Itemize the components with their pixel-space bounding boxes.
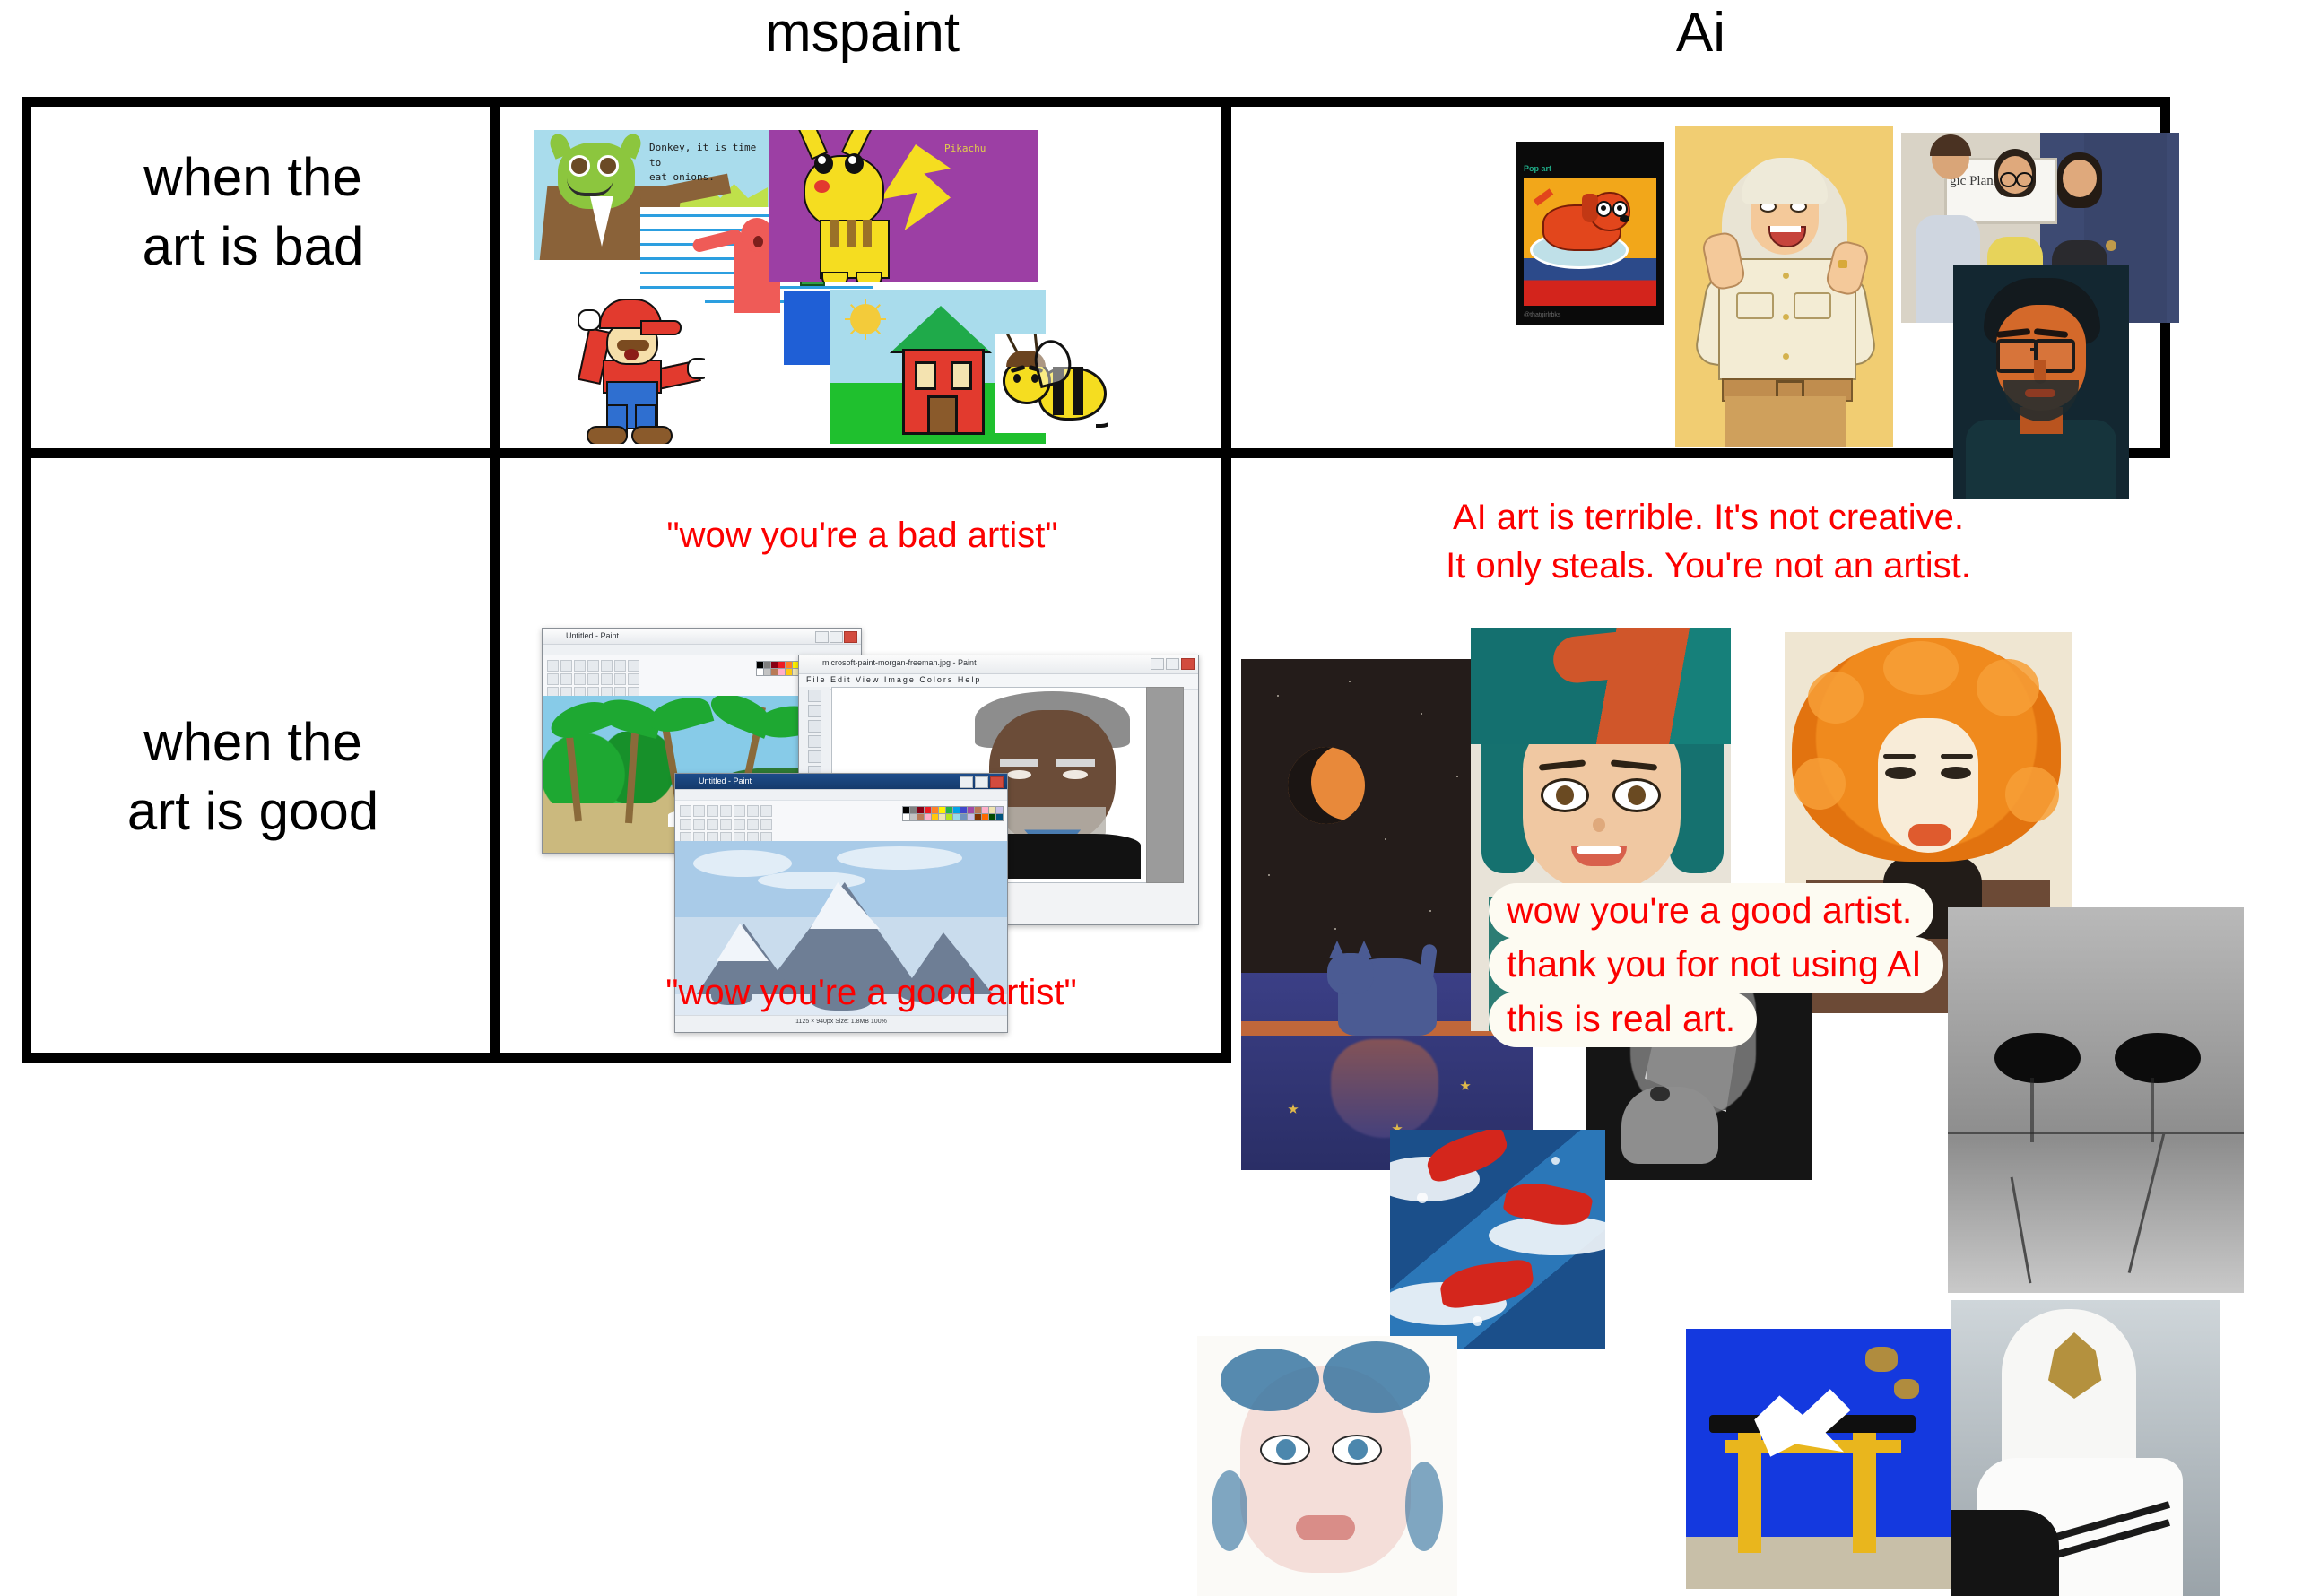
pikachu-eye-left: [814, 153, 833, 174]
orange-teal-man-portrait: [1953, 265, 2129, 499]
mspaint-good-artwork-collage: Untitled - Paint: [542, 628, 1205, 941]
watercolor-eye-left: [1260, 1435, 1310, 1465]
bee-stripe: [1073, 367, 1083, 415]
window-title: Untitled - Paint: [699, 776, 752, 785]
pikachu-foot: [856, 272, 882, 282]
bee-stinger: [1096, 404, 1108, 428]
door-knob-icon: [2106, 240, 2116, 251]
koi-fish: [1438, 1258, 1535, 1310]
house-window-left: [915, 361, 936, 390]
swimmer-mouth: [753, 236, 763, 247]
caption-ai-bad: AI art is terrible. It's not creative. I…: [1247, 493, 2170, 590]
pikachu-tail: [881, 144, 951, 230]
bubble-line-2: thank you for not using AI: [1489, 937, 1943, 993]
hollow-eye-left: [1994, 1033, 2081, 1083]
close-button[interactable]: [990, 776, 1004, 788]
house-roof: [890, 306, 992, 353]
mirror-hand: [1621, 1087, 1718, 1164]
mountain-snowcap-left: [717, 924, 769, 961]
caption-mspaint-bad: "wow you're a bad artist": [493, 511, 1231, 559]
table-border-left: [22, 97, 31, 1063]
torii-ground: [1686, 1537, 1955, 1589]
mario-shoe-right: [631, 426, 673, 444]
ribbon-toolbar[interactable]: [675, 801, 1007, 843]
tool-grid[interactable]: [680, 805, 772, 843]
row-label-art-is-good: when the art is good: [32, 708, 474, 846]
torii-gate-with-dove: [1686, 1329, 1955, 1589]
comic-blonde-woman-illustration: [1675, 126, 1893, 447]
maximize-button[interactable]: [975, 776, 988, 788]
woman-hair-front: [1742, 158, 1828, 204]
pikachu-label: Pikachu: [944, 143, 986, 154]
portrait-brow-right: [1941, 754, 1973, 759]
shirt-button: [1783, 314, 1789, 320]
crescent-moon-icon: [1288, 747, 1365, 824]
person-hair-1: [1930, 134, 1971, 156]
pop-art-dog-phone-screenshot: Pop art @thatgirlrbks: [1516, 142, 1664, 325]
portrait-eye-right: [1941, 767, 1971, 779]
shirt-pocket-left: [1736, 292, 1774, 319]
mspaint-bad-artwork-collage: Donkey, it is time to eat onions. Pikach…: [534, 130, 1198, 444]
table-column-divider-1: [490, 97, 500, 1063]
tool-grid[interactable]: [547, 660, 639, 698]
mario-mouth: [624, 349, 639, 360]
mario-shoe-left: [587, 426, 628, 444]
girl-teeth: [1577, 846, 1621, 854]
shrek-caption-text: Donkey, it is time to eat onions.: [649, 141, 766, 186]
table-border-top: [22, 97, 2170, 107]
portrait-eye-left: [1885, 767, 1916, 779]
minimize-button[interactable]: [1151, 658, 1164, 670]
tear-streak: [2030, 1078, 2034, 1142]
fingernail: [1650, 1087, 1670, 1101]
ai-bad-artwork-collage: Pop art @thatgirlrbks gic Plan: [1516, 133, 2179, 447]
watercolor-eye-right: [1332, 1435, 1382, 1465]
window-title-bar[interactable]: Untitled - Paint: [675, 774, 1007, 790]
torii-pillar-right: [1853, 1418, 1876, 1553]
shrek-eye-left: [569, 155, 590, 177]
pikachu-drawing: Pikachu: [769, 130, 1038, 282]
table-row-divider: [22, 448, 2170, 458]
window-title: Untitled - Paint: [566, 631, 619, 640]
pikachu-stripe: [863, 220, 872, 247]
glasses-icon: [2000, 172, 2017, 187]
pikachu-cheek: [814, 180, 830, 193]
pikachu-eye-right: [845, 153, 864, 174]
girl-eye-left: [1541, 778, 1589, 812]
ai-good-artwork-collage: [1166, 628, 2320, 1506]
bee-eye-left: [1013, 374, 1021, 383]
column-header-ai: Ai: [1231, 5, 2170, 61]
beach-foliage: [543, 732, 677, 803]
woman-teeth: [1770, 226, 1801, 232]
mf-brow-left: [1000, 759, 1038, 766]
torii-pillar-left: [1738, 1418, 1761, 1553]
ribbon-tab-row[interactable]: [675, 790, 1007, 801]
person-head-3: [2063, 160, 2097, 197]
pikachu-stripe: [830, 220, 839, 247]
koi-fish-waves: [1390, 1130, 1605, 1349]
cloud: [758, 872, 865, 889]
shirt-button: [1783, 273, 1789, 279]
row-label-art-is-bad: when the art is bad: [32, 143, 474, 282]
bee-drawing: [995, 334, 1108, 433]
mario-drawing: [561, 291, 705, 444]
mf-brow-right: [1056, 759, 1095, 766]
pop-art-label: Pop art: [1524, 164, 1551, 173]
close-button[interactable]: [844, 631, 857, 643]
house-door: [927, 395, 958, 435]
shirt-button: [1783, 353, 1789, 360]
minimize-button[interactable]: [960, 776, 973, 788]
hollow-eye-right: [2115, 1033, 2201, 1083]
window-title-bar[interactable]: microsoft-paint-morgan-freeman.jpg - Pai…: [799, 655, 1198, 674]
table-border-bottom: [22, 1053, 1231, 1063]
bubble-line-3: this is real art.: [1489, 992, 1757, 1047]
watercolor-lips: [1296, 1515, 1355, 1540]
status-bar: 1125 × 940px Size: 1.8MB 100%: [675, 1015, 1007, 1032]
woman-ring: [1838, 260, 1847, 268]
tear-streak: [2151, 1078, 2154, 1142]
white-haired-figure: [1951, 1300, 2220, 1596]
woman-pants: [1725, 396, 1846, 447]
sun: [850, 304, 881, 334]
glasses-bridge: [2030, 348, 2038, 351]
window-title: microsoft-paint-morgan-freeman.jpg - Pai…: [822, 658, 977, 667]
girl-nose: [1593, 818, 1605, 832]
speech-bubble-ai-good: wow you're a good artist. thank you for …: [1489, 883, 1973, 1045]
column-header-mspaint: mspaint: [493, 5, 1231, 61]
mario-hat-brim: [640, 320, 682, 335]
portrait-brow-left: [1883, 754, 1916, 759]
bubble-line-1: wow you're a good artist.: [1489, 883, 1933, 939]
dog-nose: [1620, 215, 1629, 222]
dog-eye-left: [1596, 201, 1612, 217]
social-handle: @thatgirlrbks: [1524, 312, 1560, 318]
girl-eye-right: [1612, 778, 1661, 812]
shirt-pocket-right: [1794, 292, 1831, 319]
cloud: [837, 846, 962, 870]
mario-glove-right: [687, 358, 705, 379]
pikachu-stripe: [847, 220, 856, 247]
color-palette[interactable]: [902, 806, 1002, 820]
glasses-icon: [2016, 172, 2033, 187]
man-glasses-left: [1996, 339, 2038, 373]
maximize-button[interactable]: [830, 631, 843, 643]
window-title-bar[interactable]: Untitled - Paint: [543, 629, 861, 645]
caption-mspaint-good: "wow you're a good artist": [502, 968, 1240, 1017]
pikachu-foot: [821, 272, 848, 282]
cat-reflection: [1331, 1039, 1438, 1138]
man-mouth: [2025, 389, 2055, 397]
hollow-eyes-concrete-face: [1948, 907, 2244, 1293]
shrek-eye-right: [597, 155, 619, 177]
minimize-button[interactable]: [815, 631, 829, 643]
portrait-lips: [1908, 824, 1951, 846]
cat-head: [1327, 953, 1374, 994]
house-window-right: [951, 361, 972, 390]
man-beard: [2003, 380, 2079, 421]
dark-shadow-area: [1951, 1510, 2059, 1596]
mario-glove-left: [578, 309, 601, 331]
watercolor-blue-splash-face: [1197, 1336, 1457, 1596]
